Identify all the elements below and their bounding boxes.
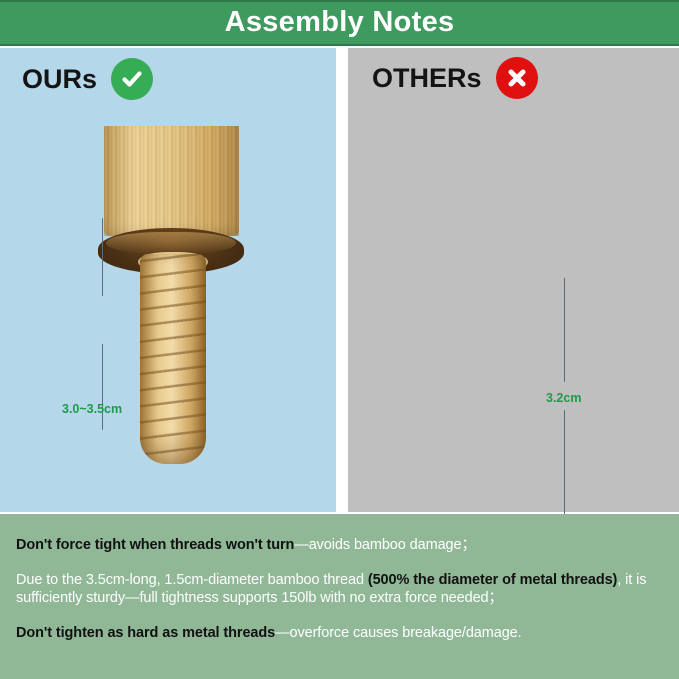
panel-others-header: OTHERs <box>372 57 538 99</box>
dim-line-thread-length-bottom <box>102 344 103 430</box>
note-2-dark: (500% the diameter of metal threads) <box>368 572 617 588</box>
panel-others: OTHERs <box>348 48 679 512</box>
comparison-panels: OURs 3.0~3.5cm 1.0~1.5cm <box>0 48 679 512</box>
note-line-1: Don't force tight when threads won't tur… <box>16 536 663 554</box>
dim-line-thread-length-top <box>102 218 103 296</box>
dim-line-screw-length-top <box>564 278 565 382</box>
page-title: Assembly Notes <box>225 8 455 39</box>
dim-label-screw-length: 3.2cm <box>546 392 581 405</box>
notes-section: Don't force tight when threads won't tur… <box>0 514 679 679</box>
note-line-2: Due to the 3.5cm-long, 1.5cm-diameter ba… <box>16 571 663 607</box>
panel-ours-header: OURs <box>22 58 153 100</box>
note-2-light-a: Due to the 3.5cm-long, 1.5cm-diameter ba… <box>16 572 368 588</box>
bamboo-thread <box>140 254 206 464</box>
check-circle-icon <box>111 58 153 100</box>
header-banner: Assembly Notes <box>0 0 679 46</box>
note-3-light: —overforce causes breakage/damage. <box>275 625 521 641</box>
dim-label-thread-length: 3.0~3.5cm <box>62 403 122 416</box>
panel-others-label: OTHERs <box>372 65 482 92</box>
note-1-dark: Don't force tight when threads won't tur… <box>16 537 294 553</box>
note-3-dark: Don't tighten as hard as metal threads <box>16 625 275 641</box>
bamboo-shaft <box>104 126 239 236</box>
x-circle-icon <box>496 57 538 99</box>
panel-ours-label: OURs <box>22 66 97 93</box>
note-1-light: —avoids bamboo damage； <box>294 537 476 553</box>
panel-ours: OURs 3.0~3.5cm 1.0~1.5cm <box>0 48 336 512</box>
note-line-3: Don't tighten as hard as metal threads—o… <box>16 624 663 642</box>
assembly-notes-infographic: Assembly Notes OURs 3.0~ <box>0 0 679 679</box>
